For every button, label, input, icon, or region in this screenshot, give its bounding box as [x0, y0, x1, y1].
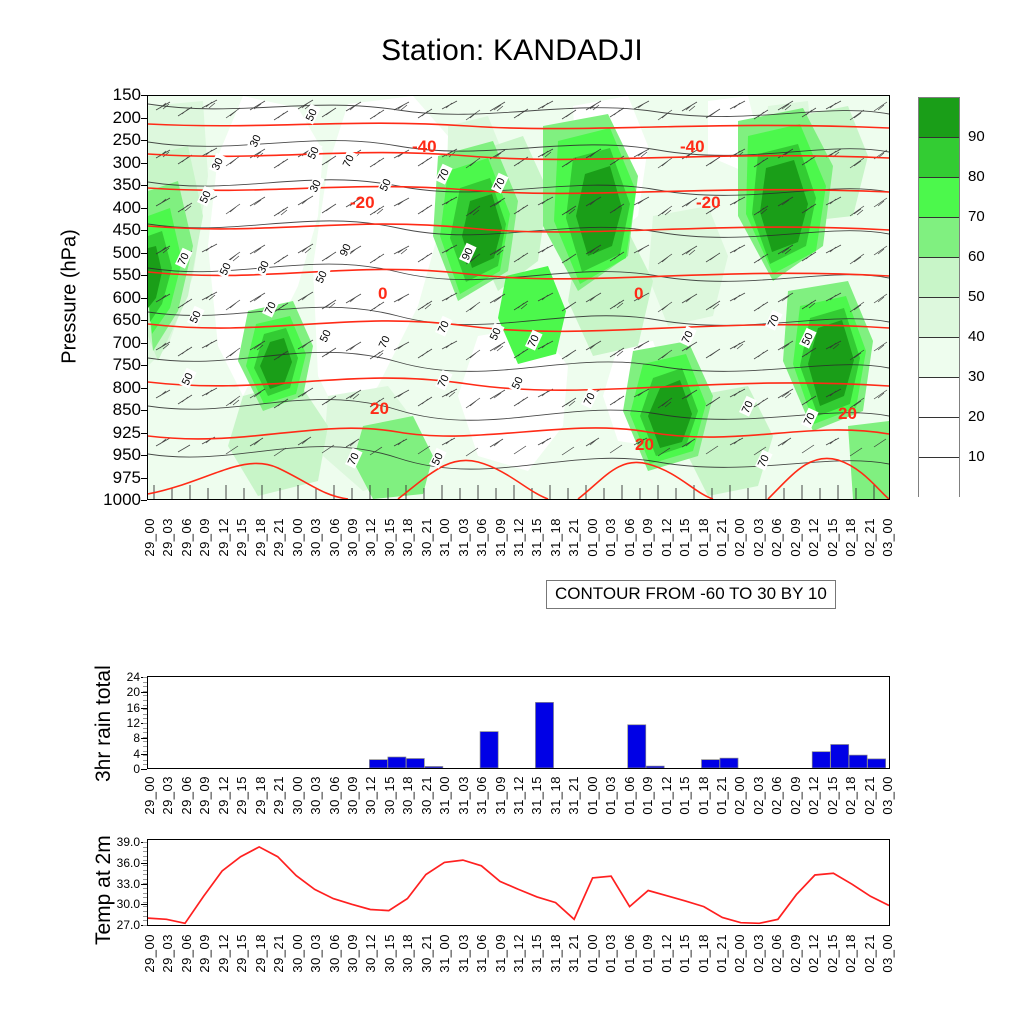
temperature-line-chart[interactable] [147, 839, 890, 926]
minor-tick-mark [143, 723, 147, 724]
time-tick-label: 31_06 [475, 518, 491, 557]
pressure-tick-label: 500 [95, 244, 141, 261]
time-tick-label: 29_00 [143, 518, 159, 557]
time-tick-label: 30_00 [291, 776, 307, 815]
pressure-tick-label: 950 [95, 446, 141, 463]
time-tick-label: 01_06 [623, 776, 639, 815]
time-tick-label: 30_03 [309, 518, 325, 557]
minor-tick-mark [143, 686, 147, 687]
time-tick-label: 30_12 [364, 776, 380, 815]
pressure-tick-mark [141, 320, 147, 321]
time-tick-label: 29_18 [254, 776, 270, 815]
time-tick-label: 30_09 [346, 518, 362, 557]
time-tick-label: 01_03 [604, 518, 620, 557]
pressure-axis-label: Pressure (hPa) [59, 172, 82, 422]
time-tick-label: 01_00 [586, 934, 602, 973]
minor-tick-mark [143, 755, 147, 756]
colorbar-band [919, 458, 959, 498]
time-tick-label: 30_18 [401, 934, 417, 973]
time-tick-label: 31_09 [494, 934, 510, 973]
minor-tick-mark [143, 902, 147, 903]
time-tick-label: 30_03 [309, 776, 325, 815]
time-tick-label: 31_06 [475, 776, 491, 815]
time-tick-label: 31_03 [457, 776, 473, 815]
rain-tick-label: 24 [96, 671, 140, 683]
minor-tick-mark [143, 888, 147, 889]
time-tick-label: 30_03 [309, 934, 325, 973]
time-tick-label: 30_15 [383, 518, 399, 557]
colorbar-band [919, 418, 959, 458]
pressure-tick-mark [141, 140, 147, 141]
time-tick-label: 03_00 [881, 776, 897, 815]
colorbar-tick-label: 30 [968, 369, 985, 384]
pressure-tick-mark [141, 230, 147, 231]
time-tick-label: 29_12 [217, 776, 233, 815]
contour-note: CONTOUR FROM -60 TO 30 BY 10 [546, 580, 836, 609]
colorbar-tick-label: 40 [968, 329, 985, 344]
red-contour-label: -20 [696, 193, 721, 212]
colorbar-tick-label: 90 [968, 129, 985, 144]
time-tick-label: 30_21 [420, 518, 436, 557]
time-tick-label: 30_09 [346, 776, 362, 815]
minor-tick-mark [143, 705, 147, 706]
rain-chart-canvas [148, 677, 889, 768]
time-tick-label: 29_06 [180, 934, 196, 973]
time-tick-label: 29_18 [254, 934, 270, 973]
time-tick-label: 29_00 [143, 934, 159, 973]
time-tick-label: 31_00 [438, 518, 454, 557]
time-tick-label: 02_12 [807, 934, 823, 973]
time-tick-label: 31_03 [457, 934, 473, 973]
pressure-tick-mark [141, 95, 147, 96]
time-tick-label: 01_21 [715, 934, 731, 973]
time-tick-label: 01_18 [697, 934, 713, 973]
minor-tick-mark [143, 916, 147, 917]
minor-tick-mark [143, 709, 147, 710]
rain-bar [849, 755, 867, 768]
time-tick-label: 31_18 [549, 934, 565, 973]
time-tick-label: 02_09 [789, 776, 805, 815]
red-contour-label: -40 [680, 137, 705, 156]
time-tick-label: 01_12 [660, 518, 676, 557]
time-tick-label: 29_18 [254, 518, 270, 557]
minor-tick-mark [143, 865, 147, 866]
time-tick-label: 29_12 [217, 518, 233, 557]
time-tick-label: 30_06 [328, 518, 344, 557]
rain-bar [702, 760, 720, 768]
time-tick-label: 02_06 [770, 518, 786, 557]
time-tick-label: 02_06 [770, 934, 786, 973]
minor-tick-mark [143, 911, 147, 912]
temp-tick-label: 27.0 [88, 919, 140, 931]
time-tick-label: 29_09 [198, 776, 214, 815]
time-tick-label: 29_03 [161, 518, 177, 557]
minor-tick-mark [143, 883, 147, 884]
temp-chart-canvas [148, 840, 889, 925]
colorbar-band [919, 178, 959, 218]
time-tick-label: 31_00 [438, 934, 454, 973]
time-tick-label: 01_18 [697, 518, 713, 557]
pressure-tick-mark [141, 298, 147, 299]
time-tick-label: 02_21 [863, 518, 879, 557]
temperature-series [148, 847, 889, 923]
temp-tick-label: 36.0 [88, 857, 140, 869]
colorbar-tick-label: 20 [968, 409, 985, 424]
minor-tick-mark [143, 691, 147, 692]
pressure-tick-label: 975 [95, 469, 141, 486]
time-tick-label: 31_18 [549, 518, 565, 557]
time-tick-label: 30_15 [383, 776, 399, 815]
minor-tick-mark [143, 732, 147, 733]
time-tick-label: 31_12 [512, 776, 528, 815]
time-tick-label: 01_12 [660, 934, 676, 973]
rain-bar [831, 744, 849, 768]
time-tick-label: 30_12 [364, 518, 380, 557]
time-tick-label: 01_09 [641, 518, 657, 557]
time-tick-label: 01_03 [604, 934, 620, 973]
time-tick-label: 31_21 [567, 934, 583, 973]
cross-section-canvas: -40 -40 -20 -20 0 0 20 20 20 50 30 30 50… [148, 96, 889, 499]
time-tick-label: 31_18 [549, 776, 565, 815]
minor-tick-mark [143, 741, 147, 742]
time-tick-label: 01_06 [623, 934, 639, 973]
rain-bar [628, 725, 646, 768]
minor-tick-mark [143, 893, 147, 894]
pressure-tick-label: 700 [95, 334, 141, 351]
colorbar-band [919, 338, 959, 378]
pressure-tick-mark [141, 500, 147, 501]
minor-tick-mark [143, 760, 147, 761]
rain-bar [720, 758, 738, 768]
colorbar-tick-label: 50 [968, 289, 985, 304]
minor-tick-mark [143, 870, 147, 871]
time-tick-label: 30_21 [420, 934, 436, 973]
minor-tick-mark [143, 860, 147, 861]
minor-tick-mark [143, 897, 147, 898]
colorbar-tick-label: 70 [968, 209, 985, 224]
minor-tick-mark [143, 718, 147, 719]
time-tick-label: 31_21 [567, 518, 583, 557]
pressure-tick-mark [141, 275, 147, 276]
time-tick-label: 02_18 [844, 934, 860, 973]
time-tick-label: 29_03 [161, 776, 177, 815]
time-tick-label: 29_06 [180, 776, 196, 815]
time-tick-label: 02_00 [733, 934, 749, 973]
time-tick-label: 30_18 [401, 776, 417, 815]
time-tick-label: 01_06 [623, 518, 639, 557]
red-contour-label: 20 [635, 435, 654, 454]
colorbar-tick-label: 60 [968, 249, 985, 264]
time-tick-label: 02_00 [733, 776, 749, 815]
pressure-tick-mark [141, 253, 147, 254]
time-tick-label: 29_21 [272, 518, 288, 557]
pressure-tick-mark [141, 478, 147, 479]
pressure-tick-mark [141, 118, 147, 119]
time-tick-label: 02_15 [826, 934, 842, 973]
time-tick-label: 31_06 [475, 934, 491, 973]
time-tick-label: 02_18 [844, 518, 860, 557]
pressure-tick-label: 200 [95, 109, 141, 126]
minor-tick-mark [143, 920, 147, 921]
red-contour-label: -40 [412, 137, 437, 156]
time-tick-label: 30_21 [420, 776, 436, 815]
time-tick-label: 31_15 [530, 934, 546, 973]
minor-tick-mark [143, 874, 147, 875]
minor-tick-mark [143, 700, 147, 701]
time-tick-label: 29_00 [143, 776, 159, 815]
humidity-colorbar[interactable] [918, 97, 960, 497]
time-tick-label: 30_18 [401, 518, 417, 557]
pressure-tick-label: 650 [95, 311, 141, 328]
time-tick-label: 29_15 [235, 776, 251, 815]
pressure-tick-label: 250 [95, 131, 141, 148]
rain-bar [480, 732, 498, 768]
rain-bar [868, 759, 886, 768]
time-tick-label: 31_09 [494, 776, 510, 815]
pressure-tick-label: 925 [95, 424, 141, 441]
colorbar-tick-label: 80 [968, 169, 985, 184]
minor-tick-mark [143, 751, 147, 752]
time-tick-label: 31_15 [530, 776, 546, 815]
time-tick-label: 01_15 [678, 776, 694, 815]
time-tick-label: 30_09 [346, 934, 362, 973]
time-tick-label: 01_09 [641, 934, 657, 973]
rain-bar [406, 759, 424, 768]
colorbar-band [919, 218, 959, 258]
colorbar-band [919, 378, 959, 418]
time-tick-label: 02_18 [844, 776, 860, 815]
time-tick-label: 01_00 [586, 518, 602, 557]
rain-bar [388, 757, 406, 768]
rain-bar [812, 752, 830, 768]
minor-tick-mark [143, 851, 147, 852]
time-tick-label: 02_06 [770, 776, 786, 815]
pressure-tick-mark [141, 455, 147, 456]
time-tick-label: 29_06 [180, 518, 196, 557]
minor-tick-mark [143, 737, 147, 738]
rain-tick-label: 20 [96, 686, 140, 698]
red-contour-label: 20 [838, 404, 857, 423]
pressure-tick-mark [141, 433, 147, 434]
minor-tick-mark [143, 677, 147, 678]
time-tick-label: 02_12 [807, 518, 823, 557]
rain-tick-label: 16 [96, 702, 140, 714]
minor-tick-mark [143, 682, 147, 683]
temp-tick-label: 33.0 [88, 878, 140, 890]
minor-tick-mark [143, 847, 147, 848]
pressure-tick-label: 450 [95, 221, 141, 238]
time-tick-label: 03_00 [881, 934, 897, 973]
time-tick-label: 01_18 [697, 776, 713, 815]
red-contour-label: 0 [634, 284, 643, 303]
time-tick-label: 29_03 [161, 934, 177, 973]
time-tick-label: 29_09 [198, 934, 214, 973]
time-tick-label: 31_12 [512, 518, 528, 557]
time-tick-label: 01_21 [715, 518, 731, 557]
minor-tick-mark [143, 695, 147, 696]
pressure-tick-label: 600 [95, 289, 141, 306]
rain-bar-chart[interactable] [147, 676, 890, 769]
time-tick-label: 01_09 [641, 776, 657, 815]
pressure-tick-label: 1000 [95, 491, 141, 508]
time-tick-label: 02_21 [863, 776, 879, 815]
minor-tick-mark [143, 728, 147, 729]
rain-bar [646, 766, 664, 768]
time-tick-label: 01_03 [604, 776, 620, 815]
time-tick-label: 29_21 [272, 934, 288, 973]
pressure-tick-mark [141, 410, 147, 411]
time-tick-label: 02_15 [826, 776, 842, 815]
time-tick-label: 30_06 [328, 776, 344, 815]
time-tick-label: 29_09 [198, 518, 214, 557]
minor-tick-mark [143, 879, 147, 880]
colorbar-band [919, 98, 959, 138]
minor-tick-mark [143, 764, 147, 765]
colorbar-tick-label: 10 [968, 449, 985, 464]
red-contour-label: -20 [350, 193, 375, 212]
time-tick-label: 31_09 [494, 518, 510, 557]
pressure-tick-label: 400 [95, 199, 141, 216]
time-tick-label: 31_21 [567, 776, 583, 815]
time-tick-label: 01_00 [586, 776, 602, 815]
time-tick-label: 29_21 [272, 776, 288, 815]
time-tick-label: 02_03 [752, 518, 768, 557]
minor-tick-mark [143, 714, 147, 715]
minor-tick-mark [143, 856, 147, 857]
time-tick-label: 30_00 [291, 934, 307, 973]
rain-bar [369, 760, 387, 768]
red-contour-label: 0 [378, 284, 387, 303]
colorbar-band [919, 138, 959, 178]
pressure-tick-mark [141, 208, 147, 209]
time-tick-label: 02_00 [733, 518, 749, 557]
minor-tick-mark [143, 842, 147, 843]
time-tick-label: 31_03 [457, 518, 473, 557]
pressure-axis-label-text: Pressure (hPa) [59, 229, 81, 364]
rain-tick-label: 0 [96, 763, 140, 775]
time-tick-label: 02_12 [807, 776, 823, 815]
pressure-tick-label: 550 [95, 266, 141, 283]
pressure-tick-label: 350 [95, 176, 141, 193]
time-tick-label: 30_06 [328, 934, 344, 973]
rain-bar [535, 702, 553, 768]
time-tick-label: 31_12 [512, 934, 528, 973]
colorbar-band [919, 258, 959, 298]
time-tick-label: 01_12 [660, 776, 676, 815]
minor-tick-mark [143, 906, 147, 907]
time-tick-label: 02_09 [789, 518, 805, 557]
rain-tick-mark [141, 769, 147, 770]
temp-tick-label: 39.0 [88, 836, 140, 848]
pressure-tick-mark [141, 185, 147, 186]
rain-bar [425, 766, 443, 768]
rain-tick-label: 12 [96, 717, 140, 729]
time-tick-label: 30_00 [291, 518, 307, 557]
time-tick-label: 03_00 [881, 518, 897, 557]
cross-section-plot[interactable]: -40 -40 -20 -20 0 0 20 20 20 50 30 30 50… [147, 95, 890, 500]
time-tick-label: 29_12 [217, 934, 233, 973]
time-tick-label: 02_03 [752, 776, 768, 815]
pressure-tick-mark [141, 343, 147, 344]
time-tick-label: 01_15 [678, 934, 694, 973]
pressure-tick-label: 300 [95, 154, 141, 171]
colorbar-band [919, 298, 959, 338]
pressure-tick-label: 150 [95, 86, 141, 103]
minor-tick-mark [143, 746, 147, 747]
pressure-tick-label: 800 [95, 379, 141, 396]
time-tick-label: 31_15 [530, 518, 546, 557]
minor-tick-mark [143, 925, 147, 926]
time-tick-label: 02_09 [789, 934, 805, 973]
time-tick-label: 31_00 [438, 776, 454, 815]
time-tick-label: 30_15 [383, 934, 399, 973]
time-tick-label: 30_12 [364, 934, 380, 973]
red-contour-label: 20 [370, 399, 389, 418]
pressure-tick-mark [141, 388, 147, 389]
time-tick-label: 02_21 [863, 934, 879, 973]
rain-tick-label: 8 [96, 732, 140, 744]
pressure-tick-mark [141, 163, 147, 164]
time-tick-label: 01_21 [715, 776, 731, 815]
pressure-tick-label: 850 [95, 401, 141, 418]
time-tick-label: 01_15 [678, 518, 694, 557]
rain-tick-label: 4 [96, 748, 140, 760]
pressure-tick-mark [141, 365, 147, 366]
time-tick-label: 29_15 [235, 934, 251, 973]
time-tick-label: 02_15 [826, 518, 842, 557]
page-title: Station: KANDADJI [0, 34, 1024, 68]
pressure-tick-label: 750 [95, 356, 141, 373]
temp-tick-label: 30.0 [88, 898, 140, 910]
time-tick-label: 29_15 [235, 518, 251, 557]
time-tick-label: 02_03 [752, 934, 768, 973]
